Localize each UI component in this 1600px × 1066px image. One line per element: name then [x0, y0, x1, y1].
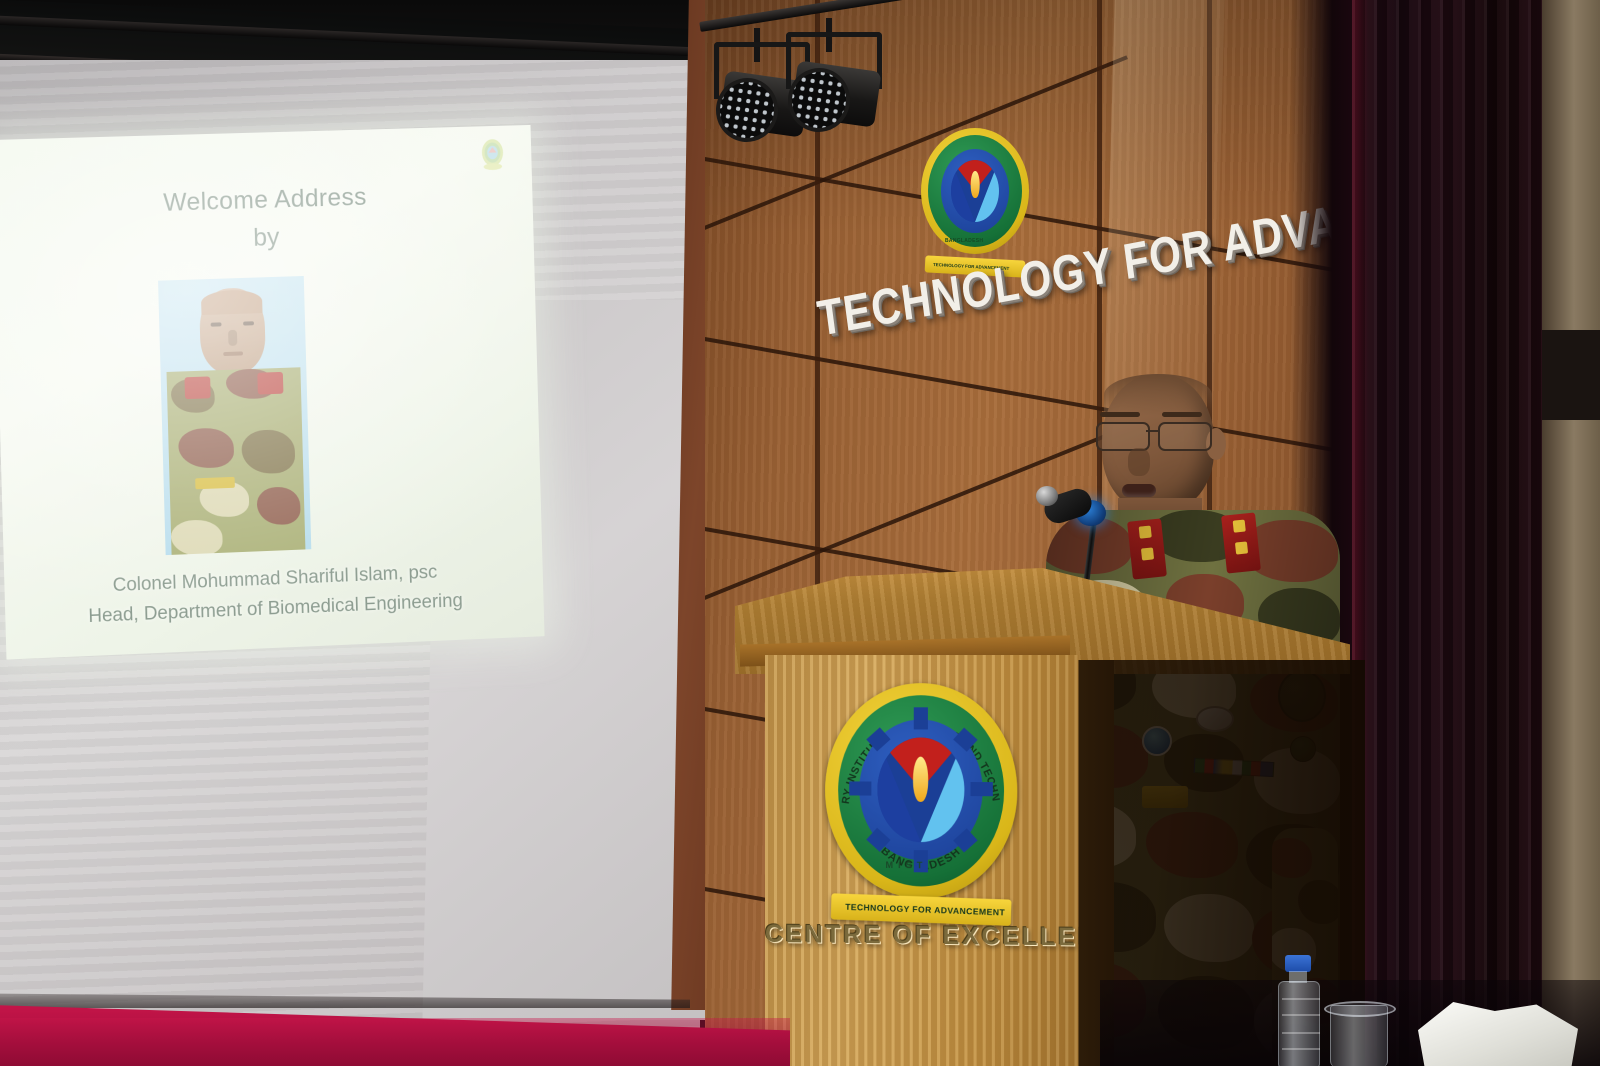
slide-title: Welcome Address	[0, 178, 533, 223]
speaker-mouth	[1122, 484, 1156, 497]
portrait-mouth	[223, 351, 243, 356]
bottle-rib	[1282, 1032, 1320, 1034]
emblem-letter: S	[906, 860, 917, 870]
glasses-lens-left	[1096, 422, 1150, 451]
bottle-rib	[1282, 1048, 1320, 1050]
glasses-lens-right	[1158, 422, 1212, 451]
camo-blob	[241, 429, 295, 475]
water-bottle[interactable]	[1276, 955, 1320, 1066]
speaker-eyeglasses	[1096, 422, 1228, 448]
portrait-rank-left	[184, 376, 210, 399]
emblem-flame	[971, 171, 980, 198]
mist-logo-icon	[479, 137, 507, 171]
camo-blob	[257, 486, 301, 525]
speaker-hairline	[1104, 374, 1212, 416]
bottle-body	[1278, 981, 1320, 1066]
gear-tooth	[971, 782, 993, 796]
emblem-mist-letters: MIST	[885, 860, 927, 870]
slide-by-label: by	[0, 215, 534, 261]
emblem-letter: T	[917, 860, 928, 870]
speaker-eyebrow-left	[1100, 412, 1140, 417]
camo-blob	[171, 519, 223, 555]
glasses-bridge	[1146, 430, 1160, 432]
bottle-cap	[1285, 955, 1311, 972]
portrait-rank-right	[257, 372, 283, 395]
rank-pip	[1139, 525, 1152, 538]
auditorium-scene: Welcome Address by Colonel Mohumma	[0, 0, 1600, 1066]
gear-tooth	[849, 781, 871, 795]
right-side-wall-dark-band	[1542, 330, 1600, 420]
portrait-hairline	[201, 289, 263, 315]
camo-blob	[1150, 510, 1242, 562]
glass-rim	[1324, 1001, 1396, 1017]
portrait-eye-left	[211, 322, 222, 326]
emblem-shield	[877, 737, 964, 842]
emblem-flame	[913, 756, 929, 802]
gear-tooth	[914, 707, 928, 729]
emblem-letter: I	[898, 860, 906, 870]
podium-front-panel: MILITARY INSTITUTE OF SCIENCE AND TECHNO…	[765, 655, 1079, 1066]
bottle-rib	[1282, 998, 1320, 1000]
portrait-uniform	[167, 367, 306, 555]
speaker-eyebrow-right	[1162, 412, 1202, 417]
microphone-capsule-icon	[1036, 486, 1058, 506]
portrait-name-tag	[195, 477, 235, 489]
portrait-eye-right	[243, 321, 254, 325]
stage-carpet-foreground	[0, 1018, 790, 1066]
emblem-letter: M	[885, 860, 898, 870]
emblem-country-label: BANGLADESH	[945, 238, 983, 244]
right-side-wall	[1542, 0, 1600, 1066]
emblem-shield	[951, 160, 999, 222]
podium-emblem: MILITARY INSTITUTE OF SCIENCE AND TECHNO…	[825, 683, 1017, 924]
podium-inscription: CENTRE OF EXCELLENCE	[765, 920, 1079, 953]
rank-pip	[1235, 541, 1248, 554]
rank-insignia-right	[1221, 512, 1261, 573]
camo-blob	[178, 427, 234, 469]
speaker-nose	[1128, 448, 1150, 476]
portrait-nose	[228, 330, 237, 346]
rank-pip	[1233, 519, 1246, 532]
rank-insignia-left	[1127, 518, 1167, 579]
camo-blob	[1242, 520, 1338, 582]
bottle-rib	[1282, 1014, 1320, 1016]
projected-slide: Welcome Address by Colonel Mohumma	[0, 125, 545, 660]
slide-portrait-photo	[158, 276, 311, 555]
rank-pip	[1141, 547, 1154, 560]
